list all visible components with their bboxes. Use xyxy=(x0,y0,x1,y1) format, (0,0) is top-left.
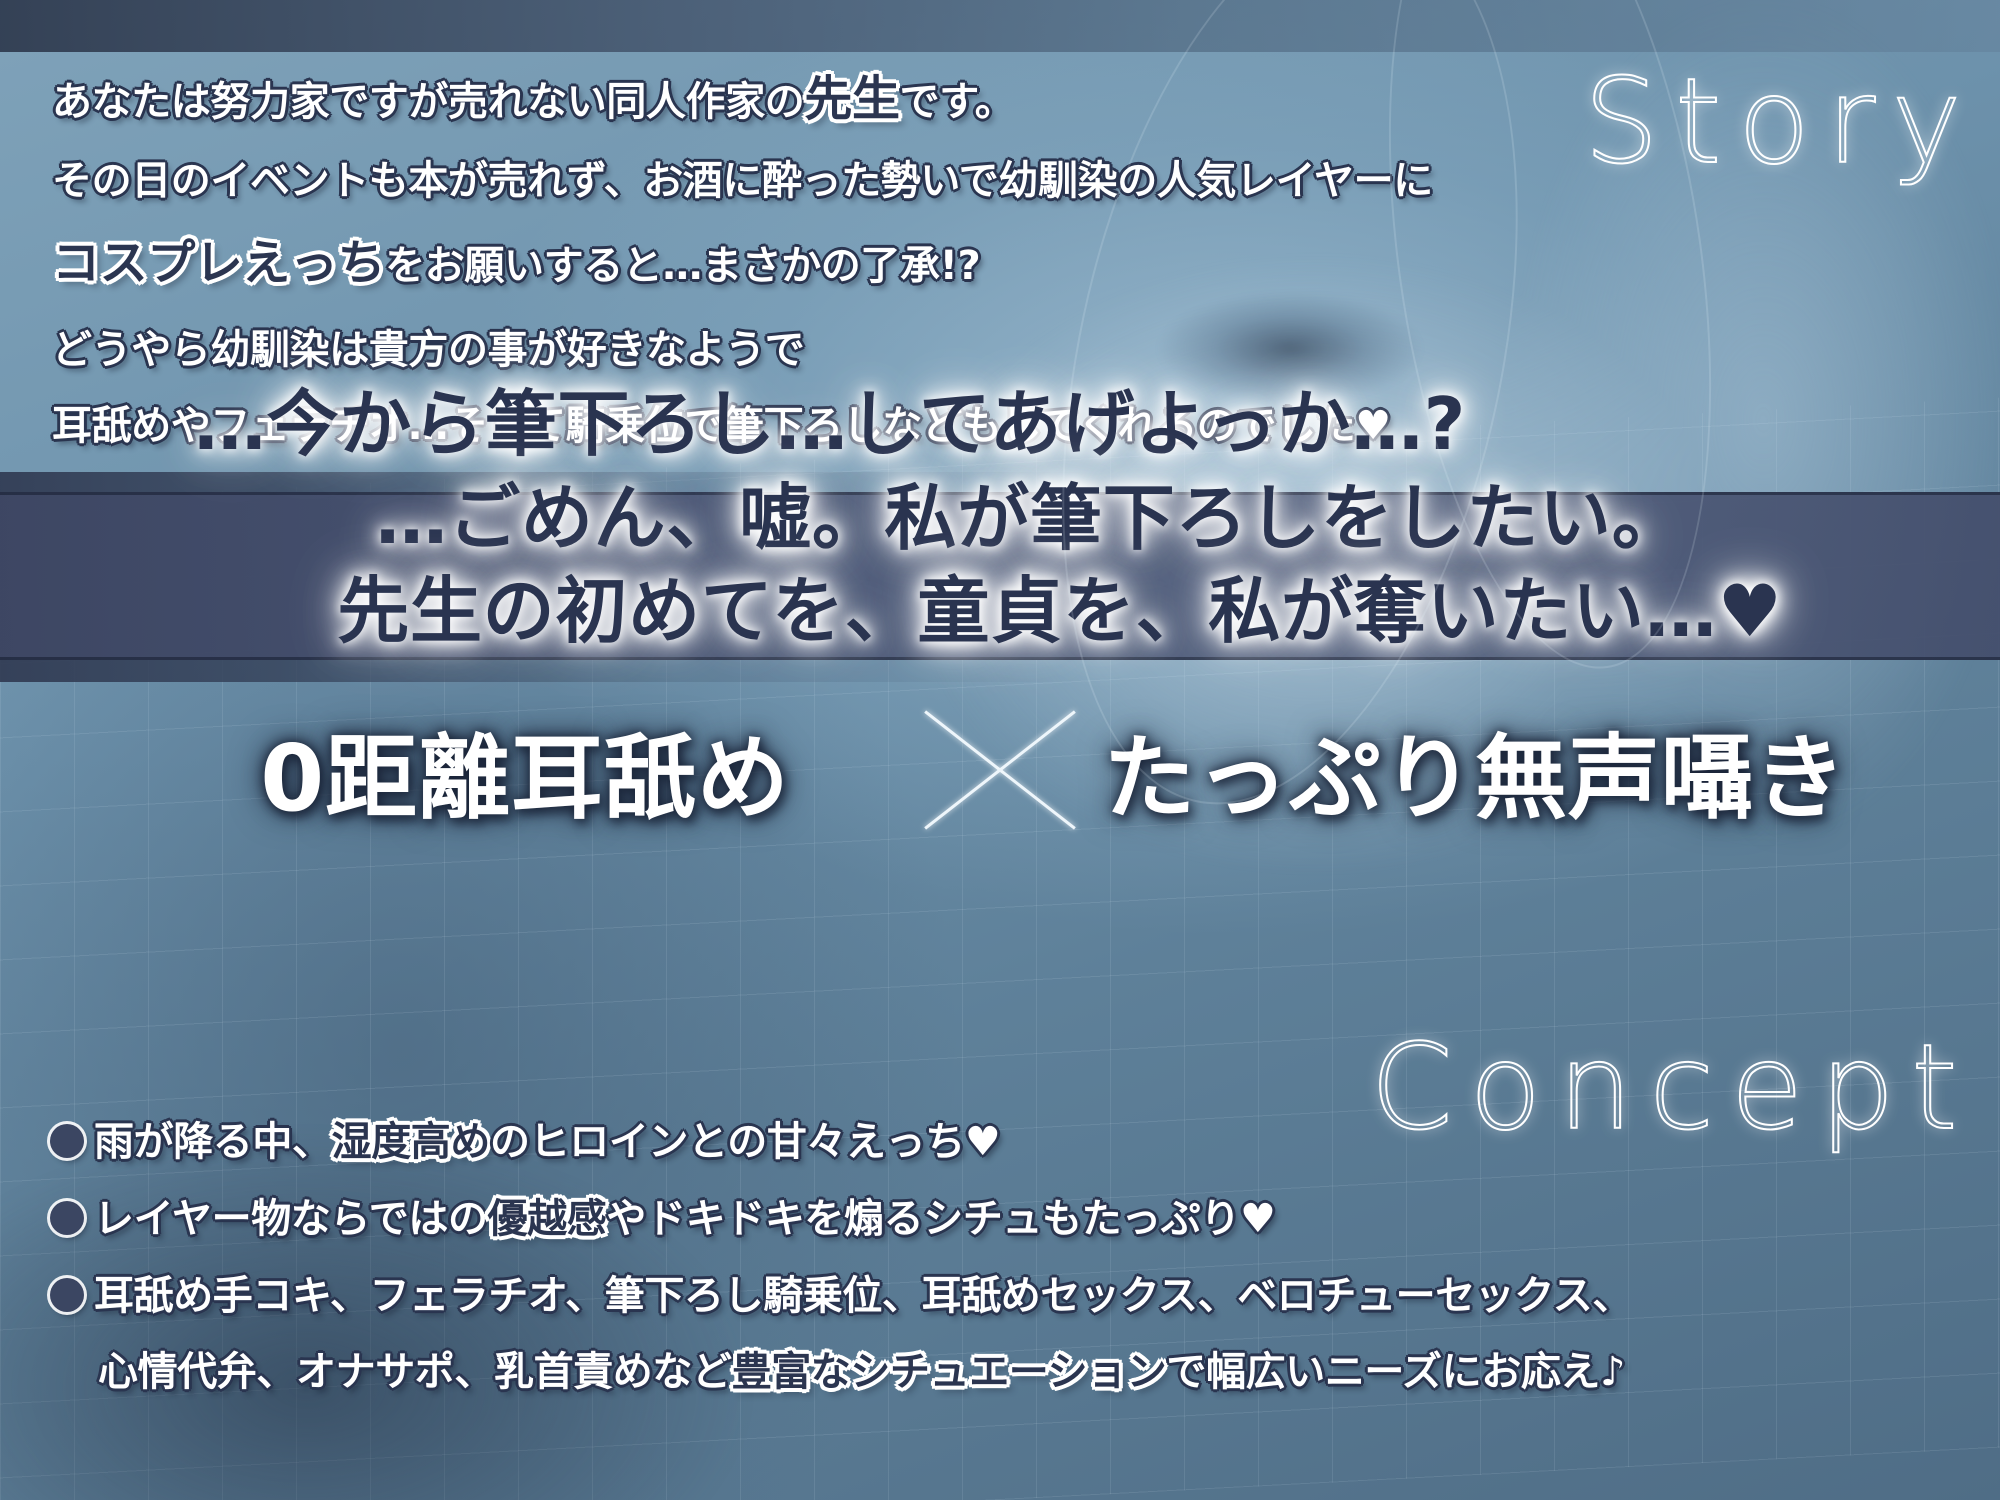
emphasis-text: 湿度高め xyxy=(332,1119,490,1165)
emphasis-text: 優越感 xyxy=(488,1196,607,1242)
body-text: をお願いすると…まさかの了承!? xyxy=(385,243,980,289)
emphasis-text: 豊富なシチュエーション xyxy=(732,1349,1167,1395)
list-item: 耳舐め手コキ、フェラチオ、筆下ろし騎乗位、耳舐めセックス、ベロチューセックス、 xyxy=(50,1266,1970,1327)
concept-headline-left: 0距離耳舐め xyxy=(145,704,905,837)
body-text: 雨が降る中、 xyxy=(94,1119,332,1165)
body-text: あなたは努力家ですが売れない同人作家の xyxy=(52,79,804,125)
bullet-dot-icon xyxy=(50,1201,84,1235)
list-item: レイヤー物ならではの優越感やドキドキを煽るシチュもたっぷり♥ xyxy=(50,1189,1970,1250)
body-text: で幅広いニーズにお応え♪ xyxy=(1166,1349,1625,1395)
body-text: やドキドキを煽るシチュもたっぷり♥ xyxy=(606,1196,1275,1242)
concept-headline: 0距離耳舐め たっぷり無声囁き xyxy=(0,690,2000,850)
poster-canvas: Story あなたは努力家ですが売れない同人作家の先生です。 その日のイベントも… xyxy=(0,0,2000,1500)
body-text: のヒロインとの甘々えっち♥ xyxy=(490,1119,1000,1165)
body-text: レイヤー物ならではの xyxy=(94,1196,488,1242)
body-text: です。 xyxy=(900,79,1015,125)
cross-x-icon xyxy=(905,695,1095,845)
quote-line: 先生の初めてを、童貞を、私が奪いたい…♥ xyxy=(0,565,2000,659)
bullet-dot-icon xyxy=(50,1278,84,1312)
bullet-dot-icon xyxy=(50,1124,84,1158)
list-item: 心情代弁、オナサポ、乳首責めなど豊富なシチュエーションで幅広いニーズにお応え♪ xyxy=(98,1342,1970,1403)
body-text: 心情代弁、オナサポ、乳首責めなど xyxy=(98,1349,732,1395)
background-top-strip xyxy=(0,0,2000,52)
body-text: 耳舐め手コキ、フェラチオ、筆下ろし騎乗位、耳舐めセックス、ベロチューセックス、 xyxy=(94,1273,1632,1319)
emphasis-text: コスプレえっち xyxy=(52,235,385,291)
list-item: 雨が降る中、湿度高めのヒロインとの甘々えっち♥ xyxy=(50,1112,1970,1173)
concept-bullet-list: 雨が降る中、湿度高めのヒロインとの甘々えっち♥ レイヤー物ならではの優越感やドキ… xyxy=(50,1112,1970,1419)
body-text: どうやら幼馴染は貴方の事が好きなようで xyxy=(52,327,804,373)
emphasis-text: 先生 xyxy=(804,71,899,127)
